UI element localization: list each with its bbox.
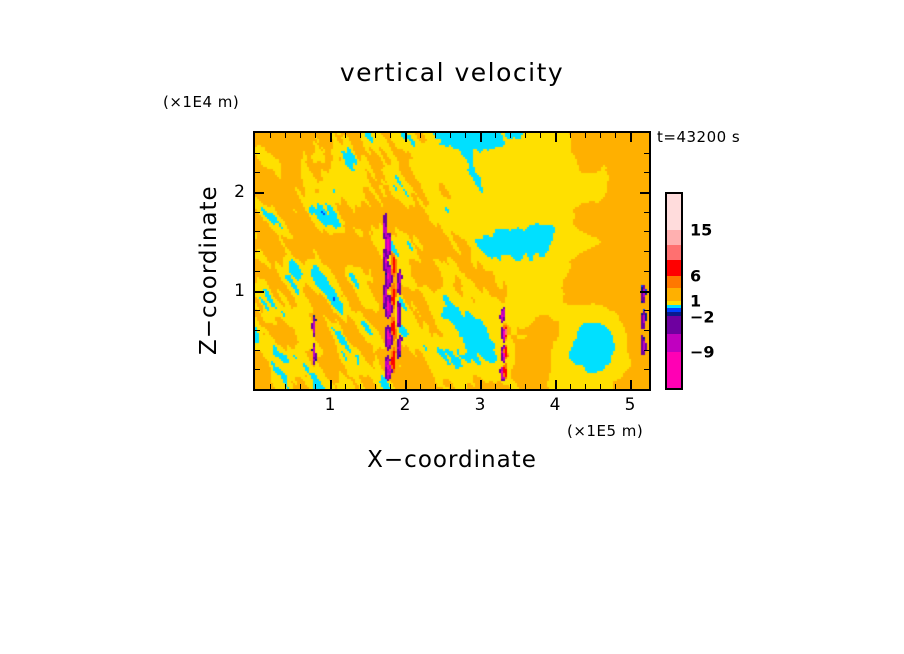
y-axis-minor-tick [644,231,649,232]
x-axis-tick [330,380,332,389]
x-axis-minor-tick [540,133,541,138]
y-axis-tick-label: 2 [227,182,245,202]
colorbar-segment [667,352,681,388]
colorbar-segment [667,334,681,352]
x-axis-minor-tick [570,384,571,389]
colorbar-tick-label: −2 [690,307,715,326]
y-axis-tick [255,192,264,194]
x-axis-minor-tick [525,133,526,138]
y-axis-minor-tick [255,153,260,154]
y-axis-minor-tick [255,212,260,213]
x-axis-minor-tick [345,133,346,138]
y-axis-minor-tick [644,212,649,213]
y-axis-minor-tick [255,231,260,232]
x-axis-title: X−coordinate [253,447,651,473]
x-axis-minor-tick [270,133,271,138]
x-axis-tick [555,380,557,389]
y-axis-minor-tick [255,172,260,173]
x-axis-minor-tick [450,133,451,138]
x-axis-tick-label: 3 [475,395,486,415]
x-axis-tick-label: 5 [625,395,636,415]
y-axis-minor-tick [644,310,649,311]
colorbar-tick-label: 6 [690,266,701,285]
vertical-velocity-field [255,133,649,389]
colorbar-tick-label: 15 [690,220,712,239]
x-axis-minor-tick [360,384,361,389]
y-axis-minor-tick [255,251,260,252]
colorbar-segment [667,260,681,275]
y-axis-tick [255,291,264,293]
colorbar-segment [667,194,681,230]
x-axis-minor-tick [600,384,601,389]
x-axis-minor-tick [495,384,496,389]
x-axis-minor-tick [375,133,376,138]
y-axis-minor-tick [644,369,649,370]
figure-canvas: vertical velocity (×1E4 m) (×1E5 m) t=43… [0,0,904,654]
x-axis-minor-tick [450,384,451,389]
colorbar-segment [667,316,681,334]
y-axis-tick [640,192,649,194]
x-axis-minor-tick [420,384,421,389]
x-axis-tick [630,133,632,142]
x-axis-minor-tick [495,133,496,138]
x-axis-minor-tick [285,384,286,389]
x-axis-minor-tick [300,133,301,138]
x-axis-minor-tick [315,133,316,138]
x-axis-minor-tick [390,133,391,138]
y-axis-minor-tick [255,369,260,370]
x-axis-minor-tick [540,384,541,389]
x-axis-tick [405,380,407,389]
y-axis-title: Z−coordinate [196,150,222,390]
x-axis-tick [480,133,482,142]
x-axis-tick-label: 2 [400,395,411,415]
page-title: vertical velocity [253,58,651,87]
x-axis-tick [555,133,557,142]
x-axis-minor-tick [465,133,466,138]
colorbar-tick-label: −9 [690,343,715,362]
x-axis-minor-tick [525,384,526,389]
x-axis-minor-tick [465,384,466,389]
x-axis-unit-label: (×1E5 m) [567,422,643,440]
y-axis-minor-tick [255,350,260,351]
y-axis-minor-tick [255,271,260,272]
x-axis-tick-label: 4 [550,395,561,415]
x-axis-minor-tick [510,384,511,389]
x-axis-minor-tick [615,133,616,138]
x-axis-tick [330,133,332,142]
x-axis-minor-tick [345,384,346,389]
y-axis-minor-tick [255,310,260,311]
x-axis-minor-tick [585,133,586,138]
y-axis-tick [640,291,649,293]
time-annotation: t=43200 s [657,128,740,146]
colorbar-segment [667,230,681,245]
x-axis-minor-tick [435,133,436,138]
x-axis-tick-label: 1 [325,395,336,415]
y-axis-minor-tick [644,350,649,351]
colorbar-segment [667,276,681,289]
x-axis-minor-tick [435,384,436,389]
x-axis-minor-tick [270,384,271,389]
x-axis-minor-tick [300,384,301,389]
x-axis-minor-tick [315,384,316,389]
x-axis-minor-tick [615,384,616,389]
x-axis-tick [630,380,632,389]
x-axis-minor-tick [360,133,361,138]
colorbar-segment [667,288,681,301]
x-axis-minor-tick [420,133,421,138]
y-axis-minor-tick [644,251,649,252]
x-axis-minor-tick [285,133,286,138]
colorbar-segment [667,245,681,260]
x-axis-minor-tick [375,384,376,389]
x-axis-minor-tick [510,133,511,138]
x-axis-tick [480,380,482,389]
x-axis-minor-tick [585,384,586,389]
y-axis-tick-label: 1 [227,281,245,301]
heatmap-plot-area [253,131,651,391]
y-axis-minor-tick [644,153,649,154]
x-axis-minor-tick [600,133,601,138]
y-axis-minor-tick [644,271,649,272]
y-axis-minor-tick [644,330,649,331]
y-axis-minor-tick [644,172,649,173]
x-axis-minor-tick [570,133,571,138]
y-axis-unit-label: (×1E4 m) [163,93,239,111]
x-axis-tick [405,133,407,142]
colorbar [665,192,683,390]
y-axis-minor-tick [255,330,260,331]
x-axis-minor-tick [390,384,391,389]
